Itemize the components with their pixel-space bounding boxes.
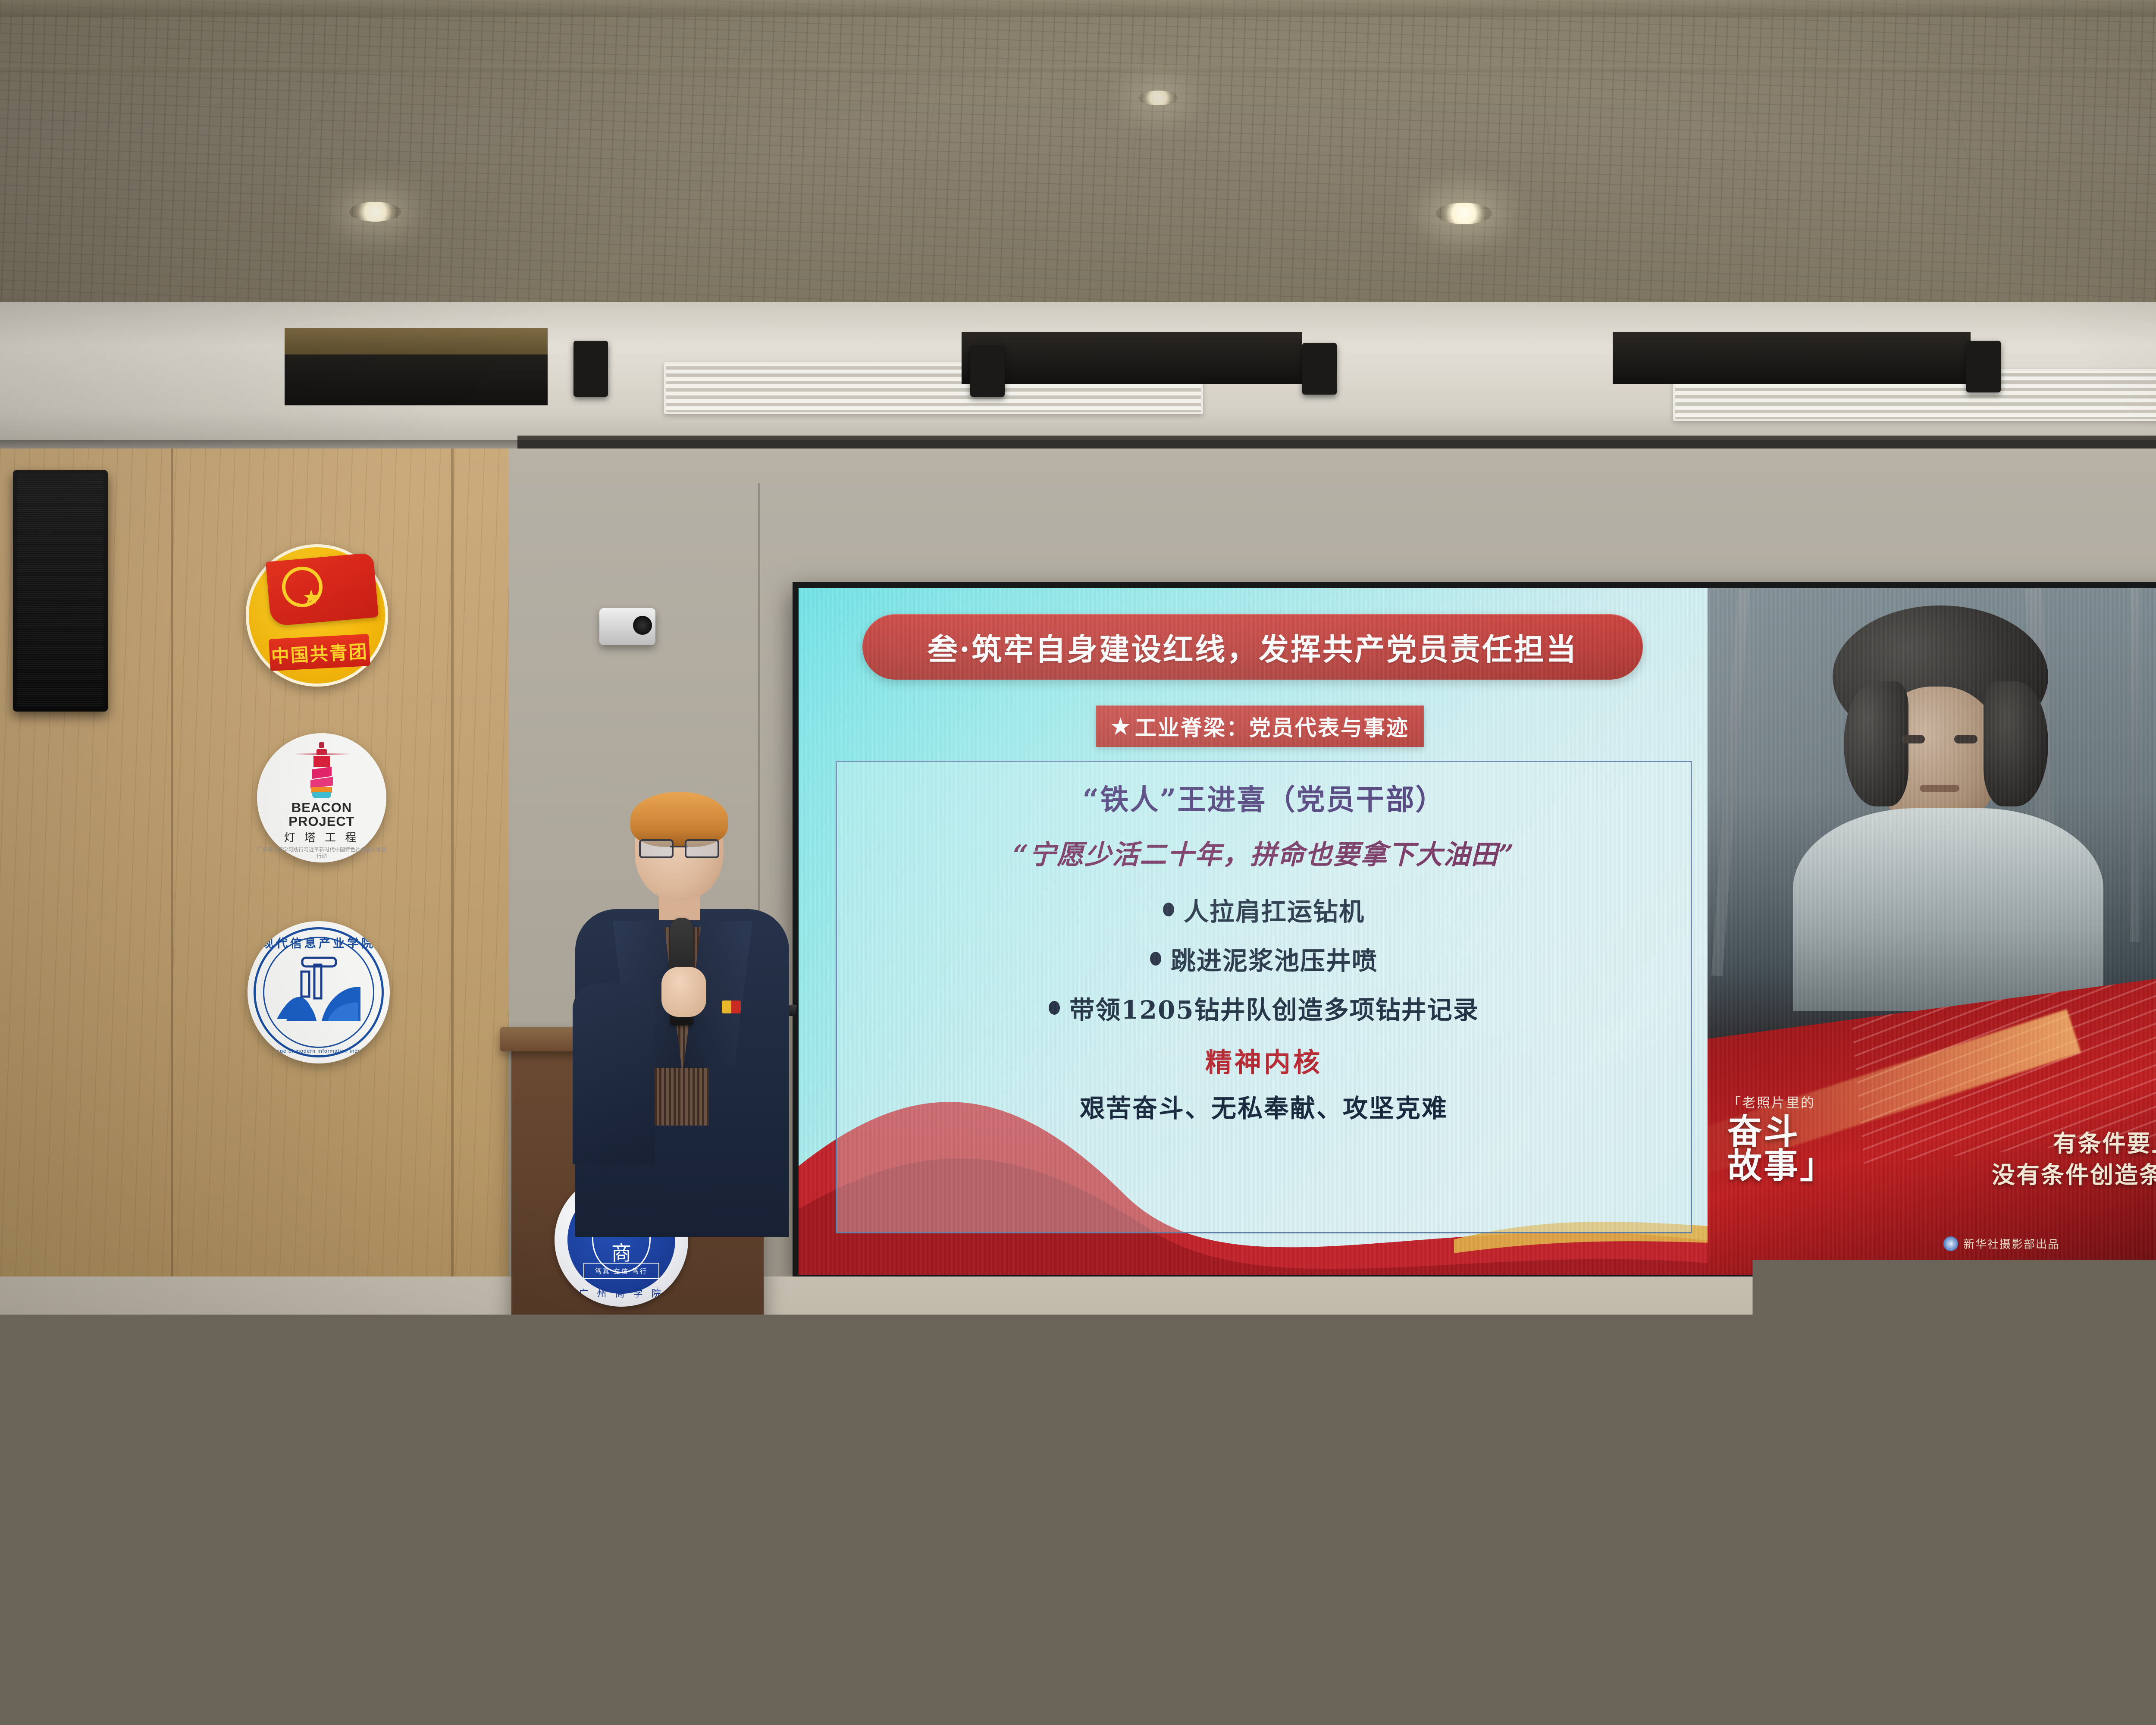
presenter-hand <box>661 967 706 1017</box>
youth-league-label: 中国共青团 <box>270 637 369 668</box>
bullet-dot-icon <box>1049 1001 1060 1015</box>
bracket-small-text: 「老照片里的 <box>1727 1092 1870 1111</box>
audience-seat[interactable] <box>1604 1570 1785 1725</box>
list-item-label: 跳进泥浆池压井喷 <box>1171 941 1378 977</box>
slide-subtitle-bar: ★ 工业脊梁：党员代表与事迹 <box>1096 706 1424 747</box>
audience-head <box>181 1432 323 1617</box>
presenter-arm <box>573 983 655 1164</box>
ceiling-downlight <box>1436 203 1492 224</box>
college-en-name: College of modern information industry <box>248 1048 390 1054</box>
star-icon: ★ <box>1111 714 1131 739</box>
structural-beam <box>962 332 1302 384</box>
party-badge-pin <box>722 1000 741 1013</box>
bracket-big-line1: 奋斗 <box>1727 1115 1870 1148</box>
audience-head <box>539 1548 677 1725</box>
spotlight-fixture <box>1966 341 2001 392</box>
spotlight-fixture <box>573 341 608 397</box>
audience-head <box>1419 1665 1539 1725</box>
wall-panel-seam <box>171 448 173 1363</box>
photo-bracket-title: 「老照片里的 奋斗 故事」 <box>1727 1092 1870 1182</box>
ceiling-downlight <box>1138 91 1178 105</box>
eyeglasses-icon <box>639 839 719 855</box>
audience-head <box>690 1621 811 1725</box>
youth-league-emblem: ★ 中国共青团 <box>246 544 388 687</box>
ceiling-downlight <box>349 202 401 222</box>
beacon-line4: 广东青少年学习践行习近平新时代中国特色社会主义思想行动 <box>257 847 386 859</box>
slide-photo-panel: 王进喜 「老照片里的 奋斗 故事」 有条件要上， 没有条件创造条件也要上 新华社 <box>1708 588 2156 1275</box>
star-icon: ★ <box>282 567 323 607</box>
ceiling-beam <box>0 65 2156 72</box>
presenter-hair <box>630 792 728 847</box>
list-item: 带领1205钻井队创造多项钻井记录 <box>1049 990 1479 1026</box>
spotlight-fixture <box>1302 343 1337 395</box>
core-spirit-title: 精神内核 <box>1205 1041 1322 1079</box>
audience-shoulders <box>112 1604 440 1725</box>
slide-content-card: “铁人”王进喜（党员干部） “宁愿少活二十年，拼命也要拿下大油田” 人拉肩扛运钻… <box>836 761 1692 1233</box>
wood-beam <box>285 328 548 354</box>
bullet-dot-icon <box>1163 903 1174 916</box>
lectern-base <box>496 1419 780 1449</box>
figure-portrait <box>1759 605 2147 985</box>
slide-title-text: 叁·筑牢自身建设红线，发挥共产党员责任担当 <box>928 625 1578 669</box>
slide-canvas: 叁·筑牢自身建设红线，发挥共产党员责任担当 ★ 工业脊梁：党员代表与事迹 “铁人… <box>799 588 2156 1275</box>
figure-name: “铁人”王进喜（党员干部） <box>1083 777 1445 818</box>
lectern-caster <box>743 1444 761 1463</box>
beacon-line2: PROJECT <box>288 815 354 828</box>
beacon-line1: BEACON <box>291 801 352 815</box>
slogan-line1: 有条件要上， <box>1992 1128 2156 1159</box>
audience-head <box>0 1479 112 1639</box>
college-emblem: 现代信息产业学院 College of modern information i… <box>248 921 390 1063</box>
floor-power-outlet <box>1378 1466 1426 1490</box>
audience-head <box>1945 1397 2087 1583</box>
ceiling-beam <box>0 0 2156 17</box>
wall-panel-seam <box>451 448 454 1363</box>
beacon-line3: 灯 塔 工 程 <box>284 829 360 845</box>
college-cn-name: 现代信息产业学院 <box>248 934 390 951</box>
structural-beam <box>1613 332 1971 384</box>
ceiling-grid <box>0 47 2156 328</box>
achievement-list: 人拉肩扛运钻机 跳进泥浆池压井喷 带领1205钻井队创造多项钻井记录 <box>1049 891 1479 1026</box>
core-spirit-values: 艰苦奋斗、无私奉献、攻坚克难 <box>1080 1088 1448 1124</box>
emblem-label-band: 中国共青团 <box>269 634 370 671</box>
slide-subtitle-text: 工业脊梁：党员代表与事迹 <box>1135 711 1409 742</box>
stage-edge <box>0 1337 2156 1345</box>
carpet-seam <box>0 1431 2156 1435</box>
bullet-dot-icon <box>1150 952 1161 966</box>
spotlight-fixture <box>970 345 1005 397</box>
audience-head <box>1112 1652 1255 1725</box>
photo-credit-text: 新华社摄影部出品 <box>1963 1236 2060 1251</box>
list-item-label: 人拉肩扛运钻机 <box>1184 891 1365 928</box>
list-item: 跳进泥浆池压井喷 <box>1150 941 1378 977</box>
beacon-project-emblem: BEACON PROJECT 灯 塔 工 程 广东青少年学习践行习近平新时代中国… <box>257 733 386 862</box>
audience-seat[interactable] <box>789 1514 992 1725</box>
presenter <box>570 798 794 1298</box>
list-item-label: 带领1205钻井队创造多项钻井记录 <box>1069 990 1479 1026</box>
list-item: 人拉肩扛运钻机 <box>1163 891 1365 928</box>
floor-power-outlet <box>571 1452 620 1477</box>
slogan-line2: 没有条件创造条件也要上 <box>1992 1159 2156 1190</box>
photo-credit: 新华社摄影部出品 <box>1708 1236 2156 1251</box>
lectern-caster <box>510 1444 529 1463</box>
wall-speaker <box>13 470 108 712</box>
figure-quote: “宁愿少活二十年，拼命也要拿下大油田” <box>1013 833 1514 872</box>
xinhua-badge-icon <box>1943 1236 1958 1251</box>
lighthouse-icon <box>308 742 335 797</box>
lecture-hall-photo: ★ 中国共青团 BEACON PROJECT 灯 塔 工 程 广东青少年学习践行… <box>0 0 2156 1725</box>
audience-shoulders <box>1807 1565 2152 1725</box>
bracket-big-line2: 故事」 <box>1727 1149 1870 1182</box>
led-projection-screen[interactable]: 叁·筑牢自身建设红线，发挥共产党员责任担当 ★ 工业脊梁：党员代表与事迹 “铁人… <box>793 582 2156 1281</box>
photo-slogan: 有条件要上， 没有条件创造条件也要上 <box>1992 1128 2156 1190</box>
hammer-icon <box>298 955 339 1001</box>
slide-title-banner: 叁·筑牢自身建设红线，发挥共产党员责任担当 <box>862 614 1643 680</box>
ptz-camera <box>599 608 655 645</box>
